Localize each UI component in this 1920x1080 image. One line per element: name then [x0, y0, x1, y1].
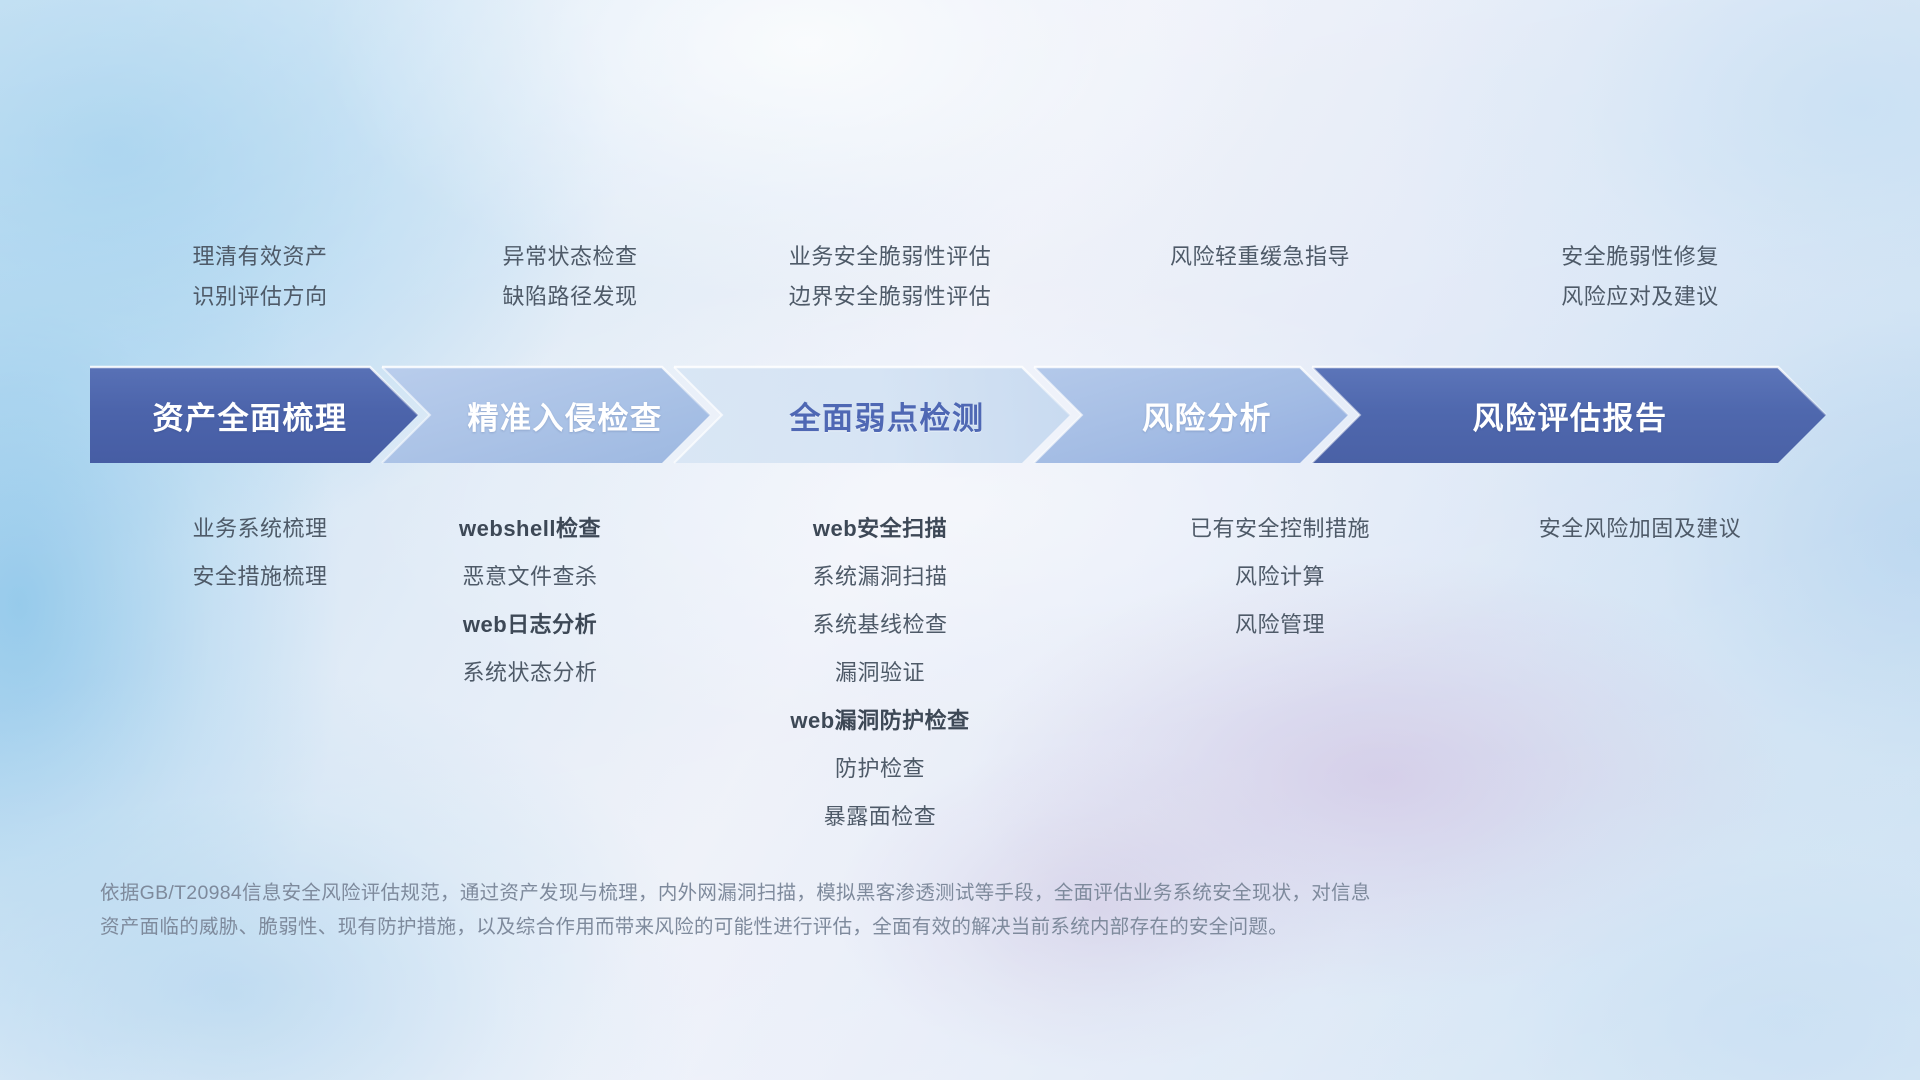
list-item: web漏洞防护检查 — [680, 697, 1080, 745]
top-note: 风险应对及建议 — [1440, 277, 1840, 317]
stage-items-2: webshell检查 恶意文件查杀 web日志分析 系统状态分析 — [330, 505, 730, 697]
list-item: 防护检查 — [680, 745, 1080, 793]
top-note: 边界安全脆弱性评估 — [640, 277, 1140, 317]
top-notes-stage-4: 风险轻重缓急指导 — [1060, 237, 1460, 277]
stage-items-4: 已有安全控制措施 风险计算 风险管理 — [1110, 505, 1450, 649]
list-item: 风险计算 — [1110, 553, 1450, 601]
stage-items-row: 业务系统梳理 安全措施梳理 webshell检查 恶意文件查杀 web日志分析 … — [0, 505, 1920, 825]
list-item: web日志分析 — [330, 601, 730, 649]
stage-items-3: web安全扫描 系统漏洞扫描 系统基线检查 漏洞验证 web漏洞防护检查 防护检… — [680, 505, 1080, 841]
list-item: web安全扫描 — [680, 505, 1080, 553]
footer-description: 依据GB/T20984信息安全风险评估规范，通过资产发现与梳理，内外网漏洞扫描，… — [100, 876, 1840, 944]
stage-label-4[interactable]: 风险分析 — [1082, 365, 1332, 465]
stage-label-3[interactable]: 全面弱点检测 — [722, 365, 1052, 465]
top-note: 风险轻重缓急指导 — [1060, 237, 1460, 277]
footer-line-2: 资产面临的威胁、脆弱性、现有防护措施，以及综合作用而带来风险的可能性进行评估，全… — [100, 910, 1840, 944]
stage-label-1[interactable]: 资产全面梳理 — [90, 365, 410, 465]
footer-line-1: 依据GB/T20984信息安全风险评估规范，通过资产发现与梳理，内外网漏洞扫描，… — [100, 876, 1840, 910]
slide-canvas: 理清有效资产 识别评估方向 异常状态检查 缺陷路径发现 业务安全脆弱性评估 边界… — [0, 0, 1920, 1080]
top-notes-row: 理清有效资产 识别评估方向 异常状态检查 缺陷路径发现 业务安全脆弱性评估 边界… — [0, 237, 1920, 337]
list-item: 系统漏洞扫描 — [680, 553, 1080, 601]
list-item: 漏洞验证 — [680, 649, 1080, 697]
top-note: 安全脆弱性修复 — [1440, 237, 1840, 277]
list-item: 系统基线检查 — [680, 601, 1080, 649]
stage-label-2[interactable]: 精准入侵检查 — [430, 365, 700, 465]
process-chevron-banner: 资产全面梳理 精准入侵检查 全面弱点检测 风险分析 风险评估报告 — [0, 365, 1920, 465]
stage-label-5[interactable]: 风险评估报告 — [1360, 365, 1780, 465]
list-item: 风险管理 — [1110, 601, 1450, 649]
list-item: 恶意文件查杀 — [330, 553, 730, 601]
list-item: 已有安全控制措施 — [1110, 505, 1450, 553]
list-item: 系统状态分析 — [330, 649, 730, 697]
stage-items-5: 安全风险加固及建议 — [1410, 505, 1870, 553]
list-item: webshell检查 — [330, 505, 730, 553]
top-notes-stage-5: 安全脆弱性修复 风险应对及建议 — [1440, 237, 1840, 317]
list-item: 安全风险加固及建议 — [1410, 505, 1870, 553]
list-item: 暴露面检查 — [680, 793, 1080, 841]
